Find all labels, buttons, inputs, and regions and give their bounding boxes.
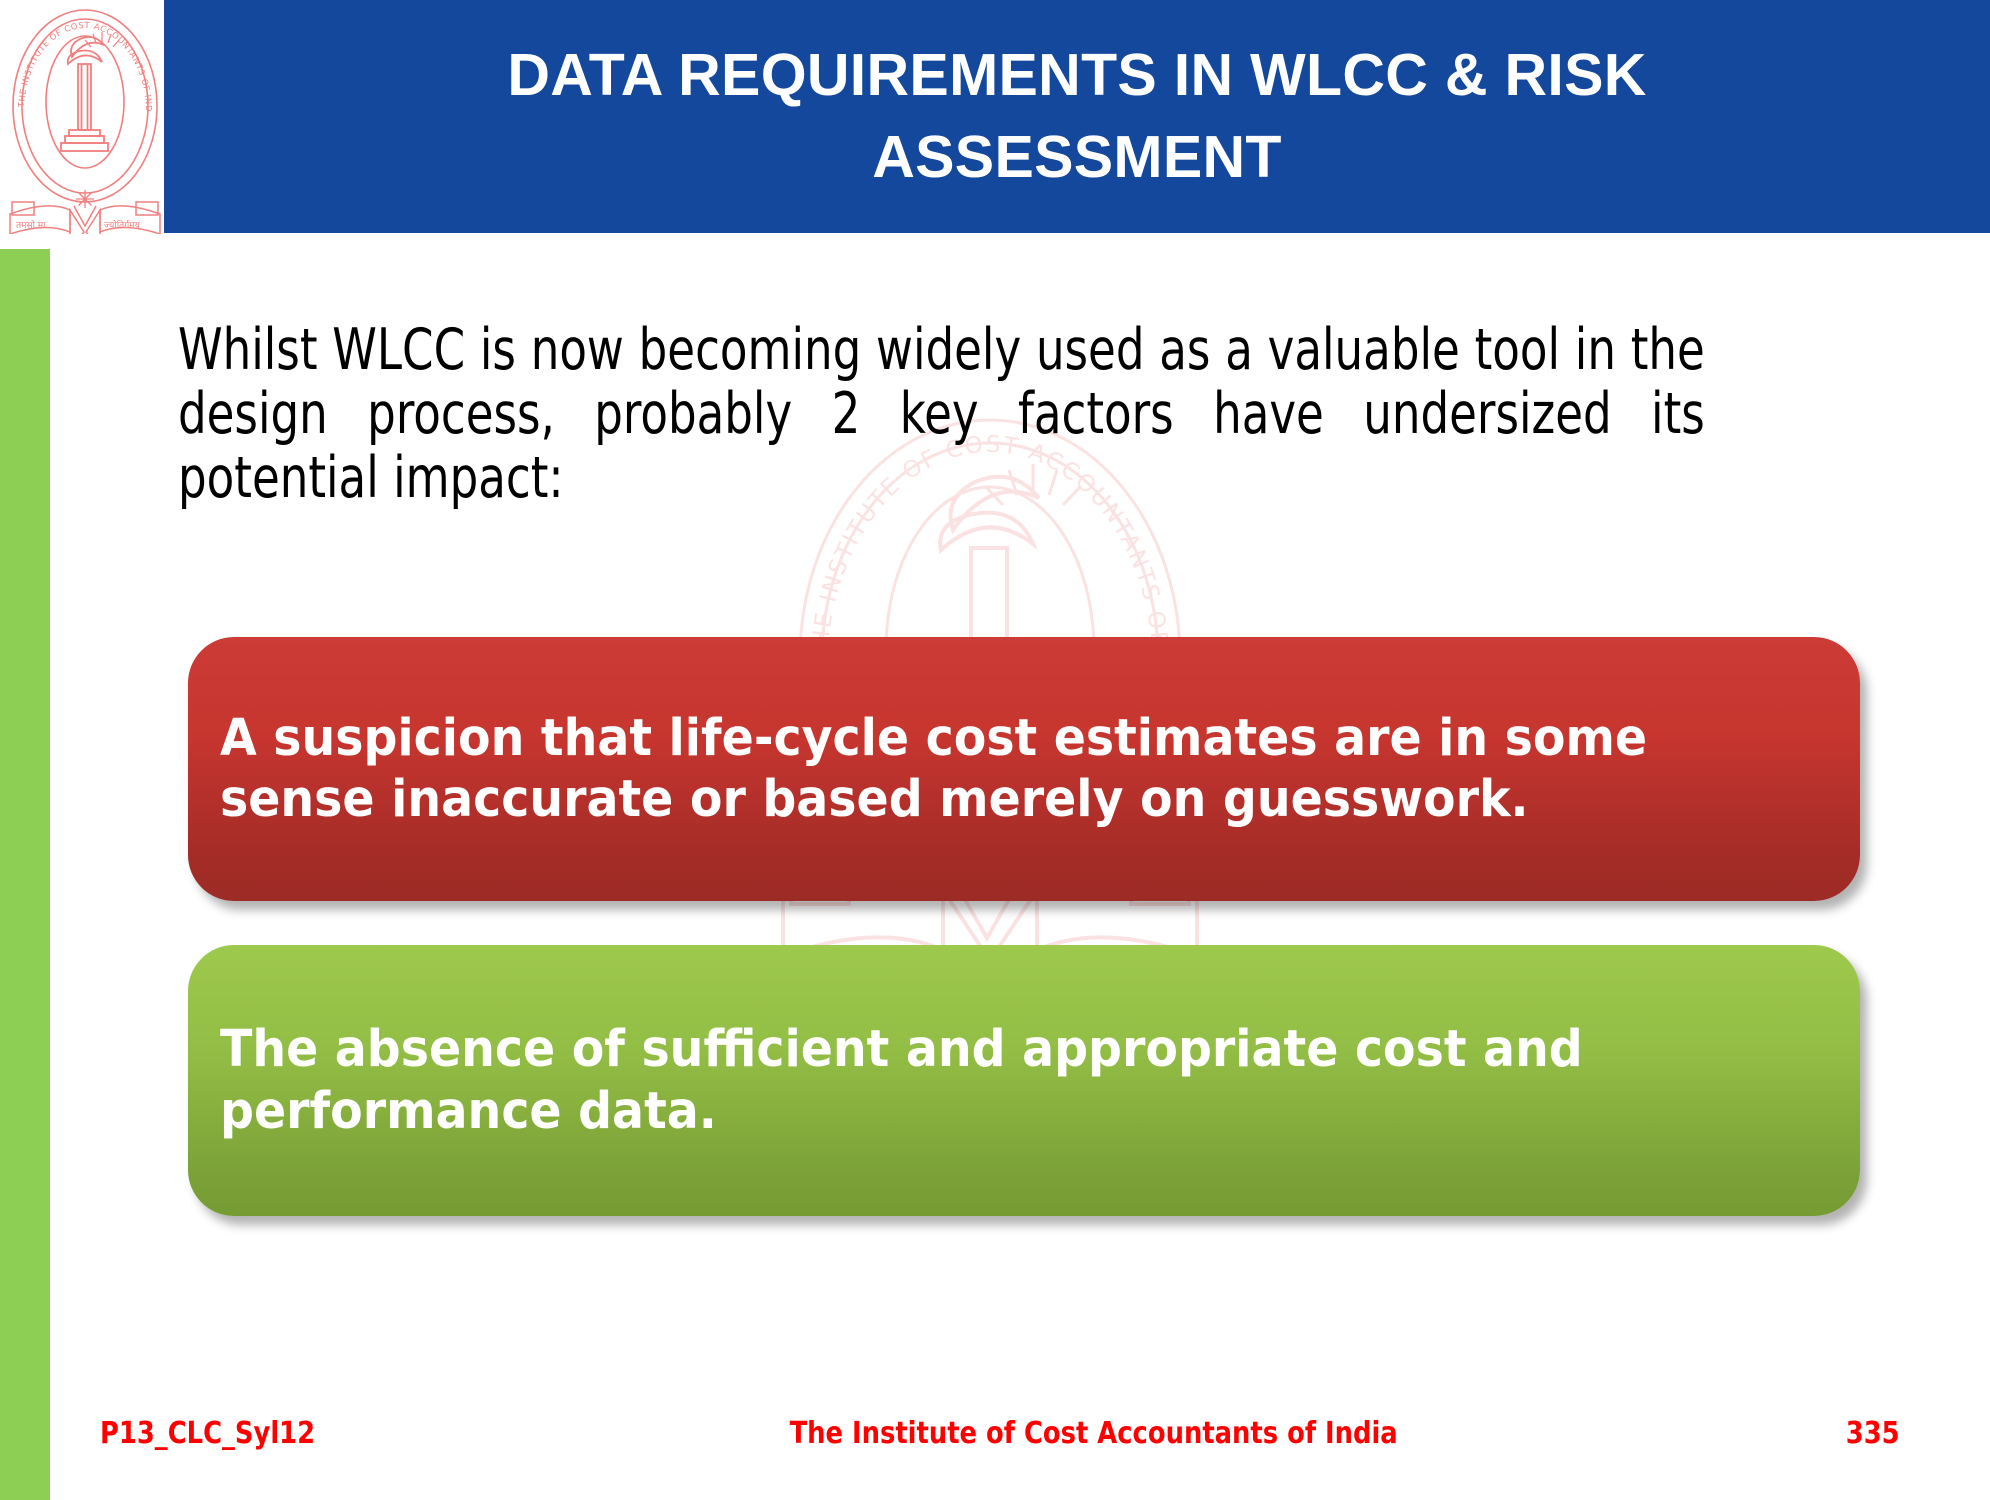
page-title: DATA REQUIREMENTS IN WLCC & RISK ASSESSM… xyxy=(297,35,1857,198)
callout-box-risk: A suspicion that life-cycle cost estimat… xyxy=(188,637,1860,901)
callout-risk-text: A suspicion that life-cycle cost estimat… xyxy=(220,708,1719,830)
slide-canvas: तमसो मा ज्योतिर्गमय THE INSTITUTE OF COS… xyxy=(0,0,1990,1500)
callout-data-text: The absence of sufficient and appropriat… xyxy=(220,1019,1719,1141)
svg-text:ज्योतिर्गमय: ज्योतिर्गमय xyxy=(104,219,141,231)
slide-footer: P13_CLC_Syl12 The Institute of Cost Acco… xyxy=(100,1408,1900,1458)
institute-logo: तमसो मा ज्योतिर्गमय THE INSTITUTE OF COS… xyxy=(6,2,164,234)
footer-institute-name: The Institute of Cost Accountants of Ind… xyxy=(454,1416,1733,1451)
left-accent-bar xyxy=(0,249,50,1500)
intro-paragraph: Whilst WLCC is now becoming widely used … xyxy=(178,319,1705,510)
footer-paper-code: P13_CLC_Syl12 xyxy=(100,1416,315,1451)
footer-page-number: 335 xyxy=(1846,1416,1900,1451)
callout-box-data: The absence of sufficient and appropriat… xyxy=(188,945,1860,1216)
svg-text:तमसो मा: तमसो मा xyxy=(16,219,46,231)
slide-header-band: DATA REQUIREMENTS IN WLCC & RISK ASSESSM… xyxy=(164,0,1990,233)
